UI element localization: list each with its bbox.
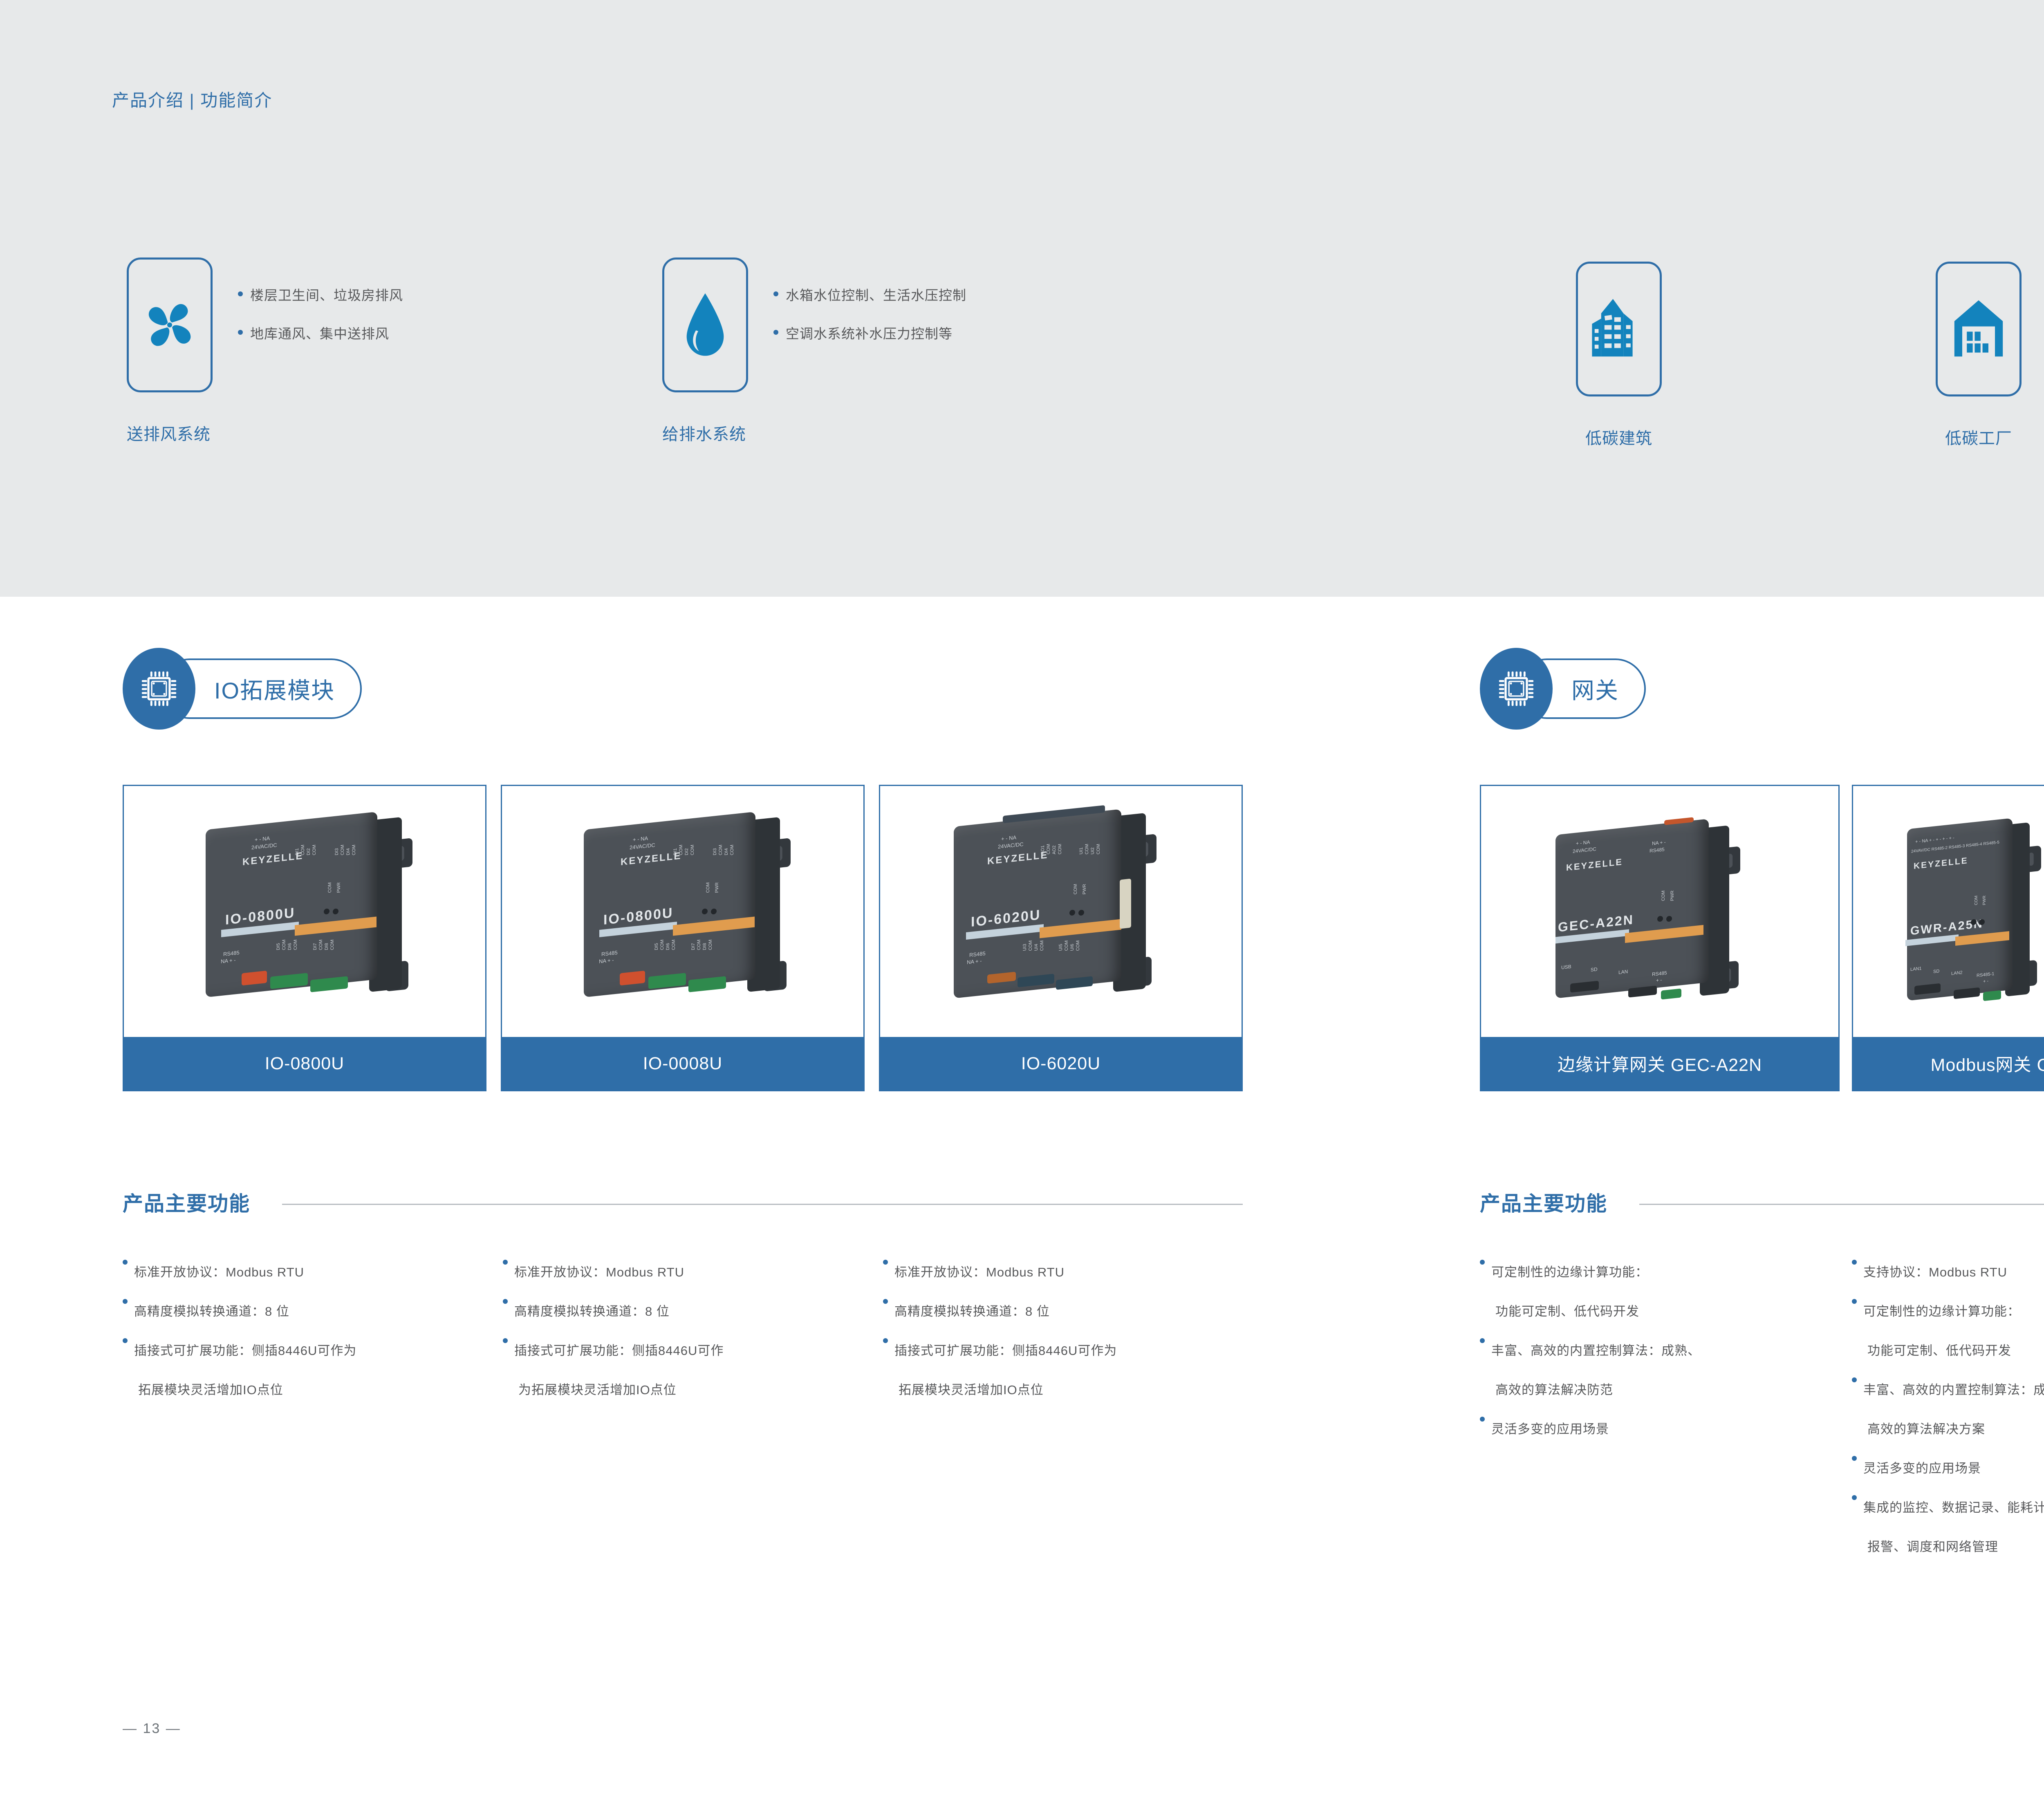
features-column: 支持协议：Modbus RTU 可定制性的边缘计算功能：功能可定制、低代码开发 …	[1852, 1253, 2044, 1567]
application-low-carbon-building: 低碳建筑	[1576, 262, 1662, 396]
feature-line: 功能可定制、低代码开发	[1863, 1331, 2044, 1370]
feature-line: 高效的算法解决防范	[1491, 1370, 1852, 1410]
scenario-water-bullets: 水箱水位控制、生活水压控制 空调水系统补水压力控制等	[773, 284, 1084, 361]
scenario-water-caption: 给排水系统	[662, 421, 797, 445]
bullet-dot-icon	[238, 330, 243, 335]
feature-line: 拓展模块灵活增加IO点位	[134, 1370, 503, 1410]
feature-line: 支持协议：Modbus RTU	[1863, 1253, 2044, 1292]
scenario-water: 水箱水位控制、生活水压控制 空调水系统补水压力控制等 给排水系统	[662, 257, 1153, 470]
page-number-left: — 13 —	[123, 1721, 181, 1737]
bullet-dot-icon	[123, 1299, 128, 1304]
fan-icon-frame	[127, 257, 213, 392]
list-item: 可定制性的边缘计算功能：功能可定制、低代码开发	[1852, 1292, 2044, 1370]
chip-icon	[123, 648, 195, 730]
feature-line: 高精度模拟转换通道：8 位	[894, 1292, 1243, 1331]
bullet-dot-icon	[503, 1299, 508, 1304]
list-item: 高精度模拟转换通道：8 位	[123, 1292, 503, 1331]
bullet-dot-icon	[1852, 1377, 1857, 1382]
bullet-dot-icon	[773, 291, 778, 296]
list-item: 插接式可扩展功能：侧插8446U可作为拓展模块灵活增加IO点位	[503, 1331, 883, 1410]
feature-line: 标准开放协议：Modbus RTU	[894, 1253, 1243, 1292]
bullet-dot-icon	[1852, 1495, 1857, 1500]
office-building-icon-frame	[1576, 262, 1662, 396]
feature-line: 高效的算法解决方案	[1863, 1410, 2044, 1449]
device-illustration: + - NA 24VAC/DC DI1 COM DI2 COM DI3 COM …	[124, 786, 485, 1037]
features-column: 标准开放协议：Modbus RTU 高精度模拟转换通道：8 位 插接式可扩展功能…	[123, 1253, 503, 1410]
features-rule	[282, 1204, 1243, 1205]
bullet-dot-icon	[1480, 1417, 1485, 1422]
product-photo: + - NA 24VAC/DC NA + - RS485 KEYZELLE GE…	[1481, 786, 1838, 1037]
list-item: 插接式可扩展功能：侧插8446U可作为拓展模块灵活增加IO点位	[883, 1331, 1243, 1410]
features-column: 标准开放协议：Modbus RTU 高精度模拟转换通道：8 位 插接式可扩展功能…	[883, 1253, 1243, 1410]
bullet-text: 水箱水位控制、生活水压控制	[786, 284, 966, 304]
list-item: 标准开放协议：Modbus RTU	[883, 1253, 1243, 1292]
bullet-dot-icon	[883, 1299, 888, 1304]
product-card-label: IO-6020U	[880, 1037, 1242, 1090]
product-card-io-0800u[interactable]: + - NA 24VAC/DC DI1 COM DI2 COM DI3 COM …	[123, 785, 486, 1091]
list-item: 空调水系统补水压力控制等	[773, 323, 1084, 343]
feature-line: 插接式可扩展功能：侧插8446U可作	[514, 1331, 883, 1370]
device-illustration: + - NA 24VAC/DC DI1 COM DI2 COM DI3 COM …	[502, 786, 863, 1037]
product-photo: + - NA 24VAC/DC AO1 COM AO2 COM UI1 COM …	[880, 786, 1242, 1037]
device-illustration: + - NA + - + - + - + - 24VAV/DC RS485-2 …	[1853, 786, 2044, 1037]
bullet-dot-icon	[1852, 1299, 1857, 1304]
features-rule	[1639, 1204, 2044, 1205]
list-item: 插接式可扩展功能：侧插8446U可作为拓展模块灵活增加IO点位	[123, 1331, 503, 1410]
factory-icon-frame	[1936, 262, 2022, 396]
features-title: 产品主要功能	[1480, 1187, 1607, 1217]
feature-line: 插接式可扩展功能：侧插8446U可作为	[134, 1331, 503, 1370]
fan-icon	[139, 294, 200, 356]
bullet-dot-icon	[503, 1338, 508, 1343]
bullet-dot-icon	[1852, 1260, 1857, 1265]
top-scenario-band: 产品介绍 | 功能简介 产品介绍 | 功能简介 楼层卫生间	[0, 0, 2044, 597]
list-item: 高精度模拟转换通道：8 位	[503, 1292, 883, 1331]
list-item: 灵活多变的应用场景	[1480, 1410, 1852, 1449]
feature-line: 插接式可扩展功能：侧插8446U可作为	[894, 1331, 1243, 1370]
bullet-dot-icon	[1852, 1456, 1857, 1461]
scenario-ventilation-bullets: 楼层卫生间、垃圾房排风 地库通风、集中送排风	[238, 284, 549, 361]
application-caption: 低碳工厂	[1945, 425, 2012, 449]
product-card-io-0008u[interactable]: + - NA 24VAC/DC DI1 COM DI2 COM DI3 COM …	[501, 785, 865, 1091]
factory-icon	[1949, 296, 2008, 362]
office-building-icon	[1589, 296, 1649, 362]
bullet-dot-icon	[1480, 1338, 1485, 1343]
bullet-dot-icon	[773, 330, 778, 335]
list-item: 楼层卫生间、垃圾房排风	[238, 284, 549, 304]
feature-line: 标准开放协议：Modbus RTU	[134, 1253, 503, 1292]
list-item: 标准开放协议：Modbus RTU	[503, 1253, 883, 1292]
feature-line: 灵活多变的应用场景	[1863, 1449, 2044, 1488]
list-item: 灵活多变的应用场景	[1852, 1449, 2044, 1488]
list-item: 高精度模拟转换通道：8 位	[883, 1292, 1243, 1331]
bullet-dot-icon	[883, 1338, 888, 1343]
product-card-gwr-a25n[interactable]: + - NA + - + - + - + - 24VAV/DC RS485-2 …	[1852, 785, 2044, 1091]
feature-line: 丰富、高效的内置控制算法：成熟、	[1863, 1370, 2044, 1410]
bullet-dot-icon	[123, 1338, 128, 1343]
bullet-dot-icon	[123, 1260, 128, 1265]
features-column: 标准开放协议：Modbus RTU 高精度模拟转换通道：8 位 插接式可扩展功能…	[503, 1253, 883, 1410]
feature-line: 丰富、高效的内置控制算法：成熟、	[1491, 1331, 1852, 1370]
feature-line: 集成的监控、数据记录、能耗计量、	[1863, 1488, 2044, 1527]
chip-icon	[1480, 648, 1553, 730]
list-item: 水箱水位控制、生活水压控制	[773, 284, 1084, 304]
product-photo: + - NA 24VAC/DC DI1 COM DI2 COM DI3 COM …	[502, 786, 863, 1037]
section-badge-label: 网关	[1571, 672, 1619, 705]
brochure-spread: 产品介绍 | 功能简介 产品介绍 | 功能简介 楼层卫生间	[0, 0, 2044, 1798]
device-illustration: + - NA 24VAC/DC AO1 COM AO2 COM UI1 COM …	[880, 786, 1242, 1037]
scenario-ventilation-caption: 送排风系统	[127, 421, 262, 445]
product-card-gec-a22n[interactable]: + - NA 24VAC/DC NA + - RS485 KEYZELLE GE…	[1480, 785, 1840, 1091]
water-drop-icon	[679, 290, 732, 360]
features-columns: 标准开放协议：Modbus RTU 高精度模拟转换通道：8 位 插接式可扩展功能…	[123, 1253, 1243, 1410]
features-title: 产品主要功能	[123, 1187, 250, 1217]
application-low-carbon-factory: 低碳工厂	[1936, 262, 2022, 396]
product-photo: + - NA 24VAC/DC DI1 COM DI2 COM DI3 COM …	[124, 786, 485, 1037]
list-item: 丰富、高效的内置控制算法：成熟、高效的算法解决方案	[1852, 1370, 2044, 1449]
feature-line: 功能可定制、低代码开发	[1491, 1292, 1852, 1331]
features-column: 可定制性的边缘计算功能：功能可定制、低代码开发 丰富、高效的内置控制算法：成熟、…	[1480, 1253, 1852, 1567]
feature-line: 灵活多变的应用场景	[1491, 1410, 1852, 1449]
water-drop-icon-frame	[662, 257, 748, 392]
list-item: 支持协议：Modbus RTU	[1852, 1253, 2044, 1292]
list-item: 丰富、高效的内置控制算法：成熟、高效的算法解决防范	[1480, 1331, 1852, 1410]
bullet-text: 楼层卫生间、垃圾房排风	[250, 284, 403, 304]
product-card-label: 边缘计算网关 GEC-A22N	[1481, 1037, 1838, 1090]
bullet-dot-icon	[503, 1260, 508, 1265]
feature-line: 标准开放协议：Modbus RTU	[514, 1253, 883, 1292]
scenario-ventilation: 楼层卫生间、垃圾房排风 地库通风、集中送排风 送排风系统	[127, 257, 576, 470]
bullet-text: 地库通风、集中送排风	[250, 323, 389, 343]
bullet-text: 空调水系统补水压力控制等	[786, 323, 953, 343]
bullet-dot-icon	[1480, 1260, 1485, 1265]
bullet-dot-icon	[238, 291, 243, 296]
bullet-dot-icon	[883, 1260, 888, 1265]
feature-line: 为拓展模块灵活增加IO点位	[514, 1370, 883, 1410]
chip-icon-glyph	[1495, 667, 1537, 710]
application-caption: 低碳建筑	[1585, 425, 1652, 449]
device-illustration: + - NA 24VAC/DC NA + - RS485 KEYZELLE GE…	[1481, 786, 1838, 1037]
page-header-left: 产品介绍 | 功能简介	[112, 87, 272, 112]
product-photo: + - NA + - + - + - + - 24VAV/DC RS485-2 …	[1853, 786, 2044, 1037]
feature-line: 拓展模块灵活增加IO点位	[894, 1370, 1243, 1410]
chip-icon-glyph	[138, 667, 180, 710]
section-badge-label: IO拓展模块	[214, 672, 335, 705]
list-item: 集成的监控、数据记录、能耗计量、报警、调度和网络管理	[1852, 1488, 2044, 1567]
feature-line: 可定制性的边缘计算功能：	[1491, 1253, 1852, 1292]
feature-line: 高精度模拟转换通道：8 位	[134, 1292, 503, 1331]
list-item: 标准开放协议：Modbus RTU	[123, 1253, 503, 1292]
list-item: 可定制性的边缘计算功能：功能可定制、低代码开发	[1480, 1253, 1852, 1331]
list-item: 地库通风、集中送排风	[238, 323, 549, 343]
product-card-label: Modbus网关 GWR-A25N	[1853, 1037, 2044, 1090]
product-card-label: IO-0800U	[124, 1037, 485, 1090]
product-card-io-6020u[interactable]: + - NA 24VAC/DC AO1 COM AO2 COM UI1 COM …	[879, 785, 1243, 1091]
feature-line: 高精度模拟转换通道：8 位	[514, 1292, 883, 1331]
feature-line: 可定制性的边缘计算功能：	[1863, 1292, 2044, 1331]
feature-line: 报警、调度和网络管理	[1863, 1527, 2044, 1567]
product-card-label: IO-0008U	[502, 1037, 863, 1090]
features-columns: 可定制性的边缘计算功能：功能可定制、低代码开发 丰富、高效的内置控制算法：成熟、…	[1480, 1253, 2044, 1567]
